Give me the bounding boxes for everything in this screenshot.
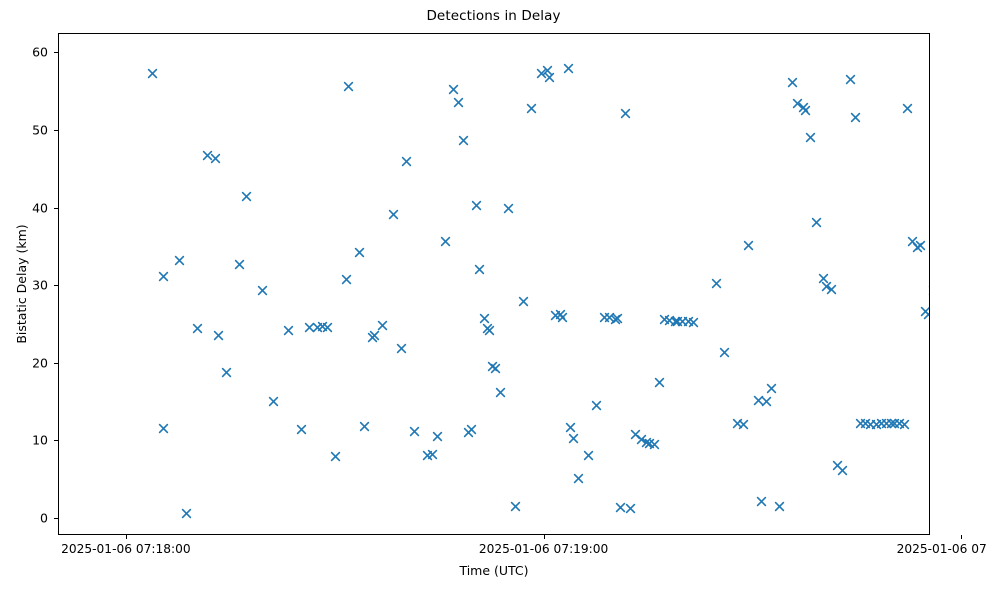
scatter-point — [565, 422, 576, 433]
scatter-point — [664, 315, 675, 326]
scatter-point — [490, 363, 501, 374]
scatter-point — [210, 153, 221, 164]
x-tick-label: 2025-01-06 07:20:00 — [876, 542, 987, 556]
scatter-point — [471, 200, 482, 211]
scatter-point — [341, 274, 352, 285]
scatter-point — [369, 330, 380, 341]
scatter-point — [510, 501, 521, 512]
scatter-point — [401, 156, 412, 167]
scatter-point — [644, 438, 655, 449]
scatter-point — [620, 108, 631, 119]
scatter-point — [317, 321, 328, 332]
scatter-point — [719, 347, 730, 358]
scatter-point — [899, 419, 910, 430]
scatter-point — [811, 217, 822, 228]
scatter-point — [427, 449, 438, 460]
scatter-point — [440, 236, 451, 247]
scatter-point — [599, 312, 610, 323]
scatter-plot-figure: Detections in Delay Bistatic Delay (km) … — [0, 0, 987, 590]
scatter-point — [409, 426, 420, 437]
scatter-points-layer — [59, 34, 929, 534]
scatter-point — [604, 312, 615, 323]
scatter-point — [738, 419, 749, 430]
scatter-point — [158, 271, 169, 282]
scatter-point — [147, 68, 158, 79]
scatter-point — [221, 367, 232, 378]
scatter-point — [821, 281, 832, 292]
scatter-point — [241, 191, 252, 202]
scatter-point — [649, 439, 660, 450]
scatter-point — [871, 419, 882, 430]
scatter-point — [805, 132, 816, 143]
scatter-point — [563, 63, 574, 74]
x-tick-label: 2025-01-06 07:19:00 — [459, 542, 629, 556]
scatter-point — [495, 387, 506, 398]
scatter-point — [158, 423, 169, 434]
scatter-point — [654, 377, 665, 388]
scatter-point — [192, 323, 203, 334]
scatter-point — [915, 240, 926, 251]
x-tick-mark — [126, 535, 127, 539]
scatter-point — [330, 451, 341, 462]
page-title: Detections in Delay — [0, 8, 987, 24]
y-tick-label: 50 — [6, 122, 48, 137]
scatter-point — [544, 72, 555, 83]
scatter-point — [257, 285, 268, 296]
scatter-point — [826, 284, 837, 295]
scatter-point — [568, 433, 579, 444]
scatter-point — [928, 285, 930, 296]
scatter-point — [798, 102, 809, 113]
y-tick-label: 10 — [6, 433, 48, 448]
scatter-point — [889, 418, 900, 429]
scatter-point — [174, 255, 185, 266]
scatter-point — [283, 325, 294, 336]
scatter-point — [845, 74, 856, 85]
scatter-point — [536, 68, 547, 79]
scatter-point — [792, 98, 803, 109]
scatter-point — [503, 203, 514, 214]
scatter-point — [683, 316, 694, 327]
scatter-point — [591, 400, 602, 411]
scatter-point — [583, 450, 594, 461]
y-tick-label: 0 — [6, 510, 48, 525]
scatter-point — [907, 236, 918, 247]
scatter-point — [422, 450, 433, 461]
scatter-point — [912, 242, 923, 253]
scatter-point — [550, 310, 561, 321]
scatter-point — [677, 316, 688, 327]
scatter-point — [213, 330, 224, 341]
scatter-point — [388, 209, 399, 220]
scatter-point — [448, 84, 459, 95]
scatter-point — [367, 332, 378, 343]
scatter-point — [518, 296, 529, 307]
scatter-point — [482, 323, 493, 334]
scatter-point — [396, 343, 407, 354]
scatter-point — [855, 418, 866, 429]
scatter-point — [787, 77, 798, 88]
scatter-point — [761, 396, 772, 407]
scatter-point — [487, 361, 498, 372]
scatter-point — [573, 473, 584, 484]
x-tick-mark — [961, 535, 962, 539]
scatter-point — [766, 383, 777, 394]
scatter-point — [466, 424, 477, 435]
scatter-point — [354, 247, 365, 258]
scatter-point — [850, 112, 861, 123]
scatter-point — [484, 325, 495, 336]
scatter-point — [636, 434, 647, 445]
plot-area — [58, 33, 930, 535]
y-axis-ticks: 0102030405060 — [0, 0, 58, 590]
scatter-point — [688, 317, 699, 328]
scatter-point — [630, 429, 641, 440]
scatter-point — [463, 427, 474, 438]
scatter-point — [322, 322, 333, 333]
scatter-point — [743, 240, 754, 251]
scatter-point — [458, 135, 469, 146]
scatter-point — [753, 395, 764, 406]
scatter-point — [268, 396, 279, 407]
scatter-point — [181, 508, 192, 519]
scatter-point — [881, 418, 892, 429]
scatter-point — [359, 421, 370, 432]
scatter-point — [860, 418, 871, 429]
scatter-point — [474, 264, 485, 275]
scatter-point — [304, 322, 315, 333]
scatter-point — [479, 313, 490, 324]
y-tick-label: 60 — [6, 45, 48, 60]
scatter-point — [818, 273, 829, 284]
scatter-point — [659, 314, 670, 325]
scatter-point — [542, 65, 553, 76]
scatter-point — [377, 320, 388, 331]
scatter-point — [555, 309, 566, 320]
x-tick-label: 2025-01-06 07:18:00 — [41, 542, 211, 556]
scatter-point — [343, 81, 354, 92]
scatter-point — [832, 460, 843, 471]
x-axis-label: Time (UTC) — [58, 563, 930, 578]
scatter-point — [774, 501, 785, 512]
y-tick-label: 40 — [6, 200, 48, 215]
scatter-point — [876, 418, 887, 429]
scatter-point — [641, 437, 652, 448]
scatter-point — [234, 259, 245, 270]
scatter-point — [920, 306, 930, 317]
scatter-point — [202, 150, 213, 161]
scatter-point — [756, 496, 767, 507]
scatter-point — [886, 418, 897, 429]
scatter-point — [453, 97, 464, 108]
scatter-point — [672, 316, 683, 327]
scatter-point — [432, 431, 443, 442]
scatter-point — [296, 424, 307, 435]
scatter-point — [837, 465, 848, 476]
scatter-point — [557, 312, 568, 323]
y-tick-label: 20 — [6, 355, 48, 370]
scatter-point — [625, 503, 636, 514]
scatter-point — [894, 418, 905, 429]
scatter-point — [902, 103, 913, 114]
scatter-point — [800, 105, 811, 116]
scatter-point — [615, 502, 626, 513]
scatter-point — [923, 309, 930, 320]
scatter-point — [670, 316, 681, 327]
scatter-point — [312, 322, 323, 333]
scatter-point — [610, 314, 621, 325]
scatter-point — [711, 278, 722, 289]
scatter-point — [526, 103, 537, 114]
scatter-point — [732, 418, 743, 429]
scatter-point — [612, 313, 623, 324]
x-tick-mark — [544, 535, 545, 539]
scatter-point — [865, 419, 876, 430]
y-tick-label: 30 — [6, 278, 48, 293]
